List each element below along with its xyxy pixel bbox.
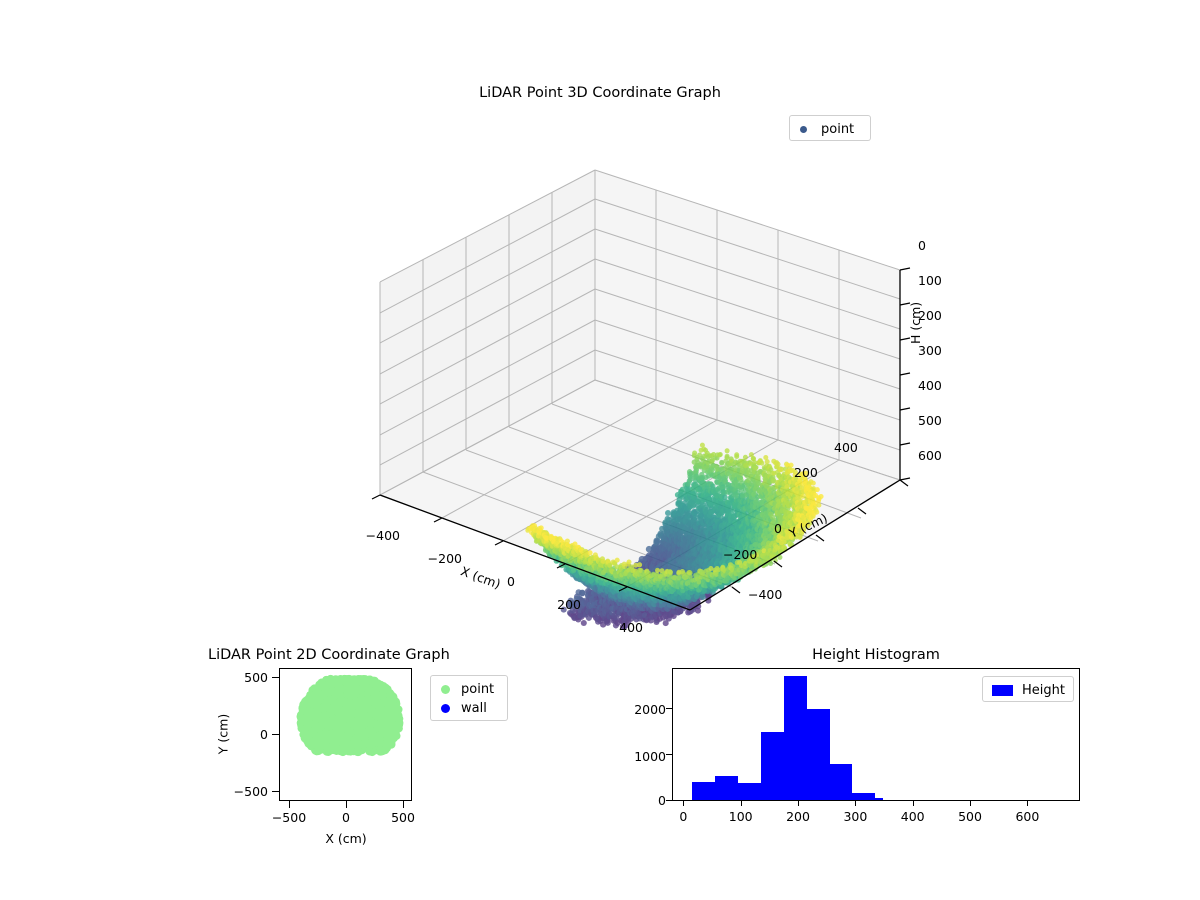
axhist-xtick-mark [798,800,799,806]
ax3d-ytick-1: −200 [723,547,757,562]
lidar-3d-canvas [300,110,920,630]
ax2d-ytick-mark-500 [272,677,279,678]
histogram-bar [761,732,784,800]
legend-2d-wall-marker [441,704,450,713]
ax3d-ztick-3: 300 [918,343,942,358]
ax3d-ytick-0: −400 [748,587,782,602]
histogram-bar [784,676,807,800]
histogram-bar [852,793,875,800]
ax3d-xtick-0: −400 [366,528,400,543]
axhist-xtick-mark [970,800,971,806]
axhist-xtick-label: 100 [729,809,753,824]
ax2d-xtick-1: 0 [342,810,350,825]
legend-2d-wall-label: wall [461,701,487,716]
axhist-xtick-label: 0 [679,809,687,824]
lidar-3d-axes[interactable]: −400 −200 0 200 400 X (cm) −400 −200 0 2… [300,110,920,630]
histogram-bar [738,783,761,800]
blob-2d-group [297,675,404,756]
ax3d-ztick-1: 100 [918,273,942,288]
point-cloud-2d [280,669,411,800]
histogram-bar [875,798,883,800]
axhist-xtick-mark [855,800,856,806]
ax2d-xtick-0: −500 [272,810,306,825]
ax3d-ztick-0: 0 [918,238,926,253]
legend-hist-height-marker [992,685,1013,696]
ax2d-xtick-2: 500 [391,810,415,825]
ax3d-xtick-2: 0 [507,574,515,589]
axhist-ytick-mark [666,708,672,709]
panel-2d-title: LiDAR Point 2D Coordinate Graph [208,647,450,663]
figure-canvas: LiDAR Point 3D Coordinate Graph [0,0,1200,900]
histogram-bar [715,776,738,800]
legend-hist[interactable]: Height [982,676,1074,702]
histogram-bar [807,709,830,800]
axhist-ytick-2: 2000 [634,702,666,717]
legend-2d-point-marker [441,685,450,694]
lidar-2d-axes[interactable] [279,668,412,801]
ax3d-xtick-3: 200 [557,597,581,612]
legend-3d-point-marker [800,126,807,133]
axhist-xtick-label: 400 [901,809,925,824]
ax2d-ytick-2: 500 [244,670,268,685]
ax3d-xtick-1: −200 [428,551,462,566]
ax2d-ytick-0: −500 [234,784,268,799]
ax3d-ytick-3: 200 [794,465,818,480]
ax3d-ztick-4: 400 [918,378,942,393]
axhist-ytick-mark [666,754,672,755]
ax3d-ytick-2: 0 [774,521,782,536]
axhist-xtick-mark [913,800,914,806]
legend-2d[interactable]: point wall [430,675,508,721]
axhist-xtick-mark [683,800,684,806]
ax3d-ztick-6: 600 [918,448,942,463]
ax3d-xtick-4: 400 [619,620,643,635]
ax2d-ytick-mark-m500 [272,791,279,792]
histogram-bar [830,764,853,800]
legend-hist-height-label: Height [1022,683,1065,698]
ax2d-ytick-mark-0 [272,734,279,735]
ax2d-xtick-mark-0 [346,801,347,808]
ax2d-xtick-mark-m500 [289,801,290,808]
legend-3d[interactable]: point [789,115,871,141]
axhist-xtick-label: 600 [1015,809,1039,824]
axhist-xtick-label: 200 [786,809,810,824]
axhist-ytick-1: 1000 [634,749,666,764]
axhist-xtick-mark [741,800,742,806]
axhist-ytick-mark [666,800,672,801]
legend-3d-point-label: point [821,122,854,137]
ax3d-ytick-4: 400 [834,440,858,455]
ax3d-zlabel: H (cm) [908,302,923,344]
ax2d-xtick-mark-500 [403,801,404,808]
axhist-xtick-mark [1027,800,1028,806]
ax2d-ylabel: Y (cm) [216,714,231,754]
ax2d-ytick-1: 0 [260,727,268,742]
panel-3d-title: LiDAR Point 3D Coordinate Graph [0,85,1200,101]
ax3d-ztick-5: 500 [918,413,942,428]
axhist-xtick-label: 300 [843,809,867,824]
axhist-ytick-0: 0 [658,793,666,808]
ax2d-xlabel: X (cm) [325,831,366,846]
axhist-xtick-label: 500 [958,809,982,824]
legend-2d-point-label: point [461,682,494,697]
histogram-bar [692,782,715,800]
panel-hist-title: Height Histogram [812,647,940,663]
